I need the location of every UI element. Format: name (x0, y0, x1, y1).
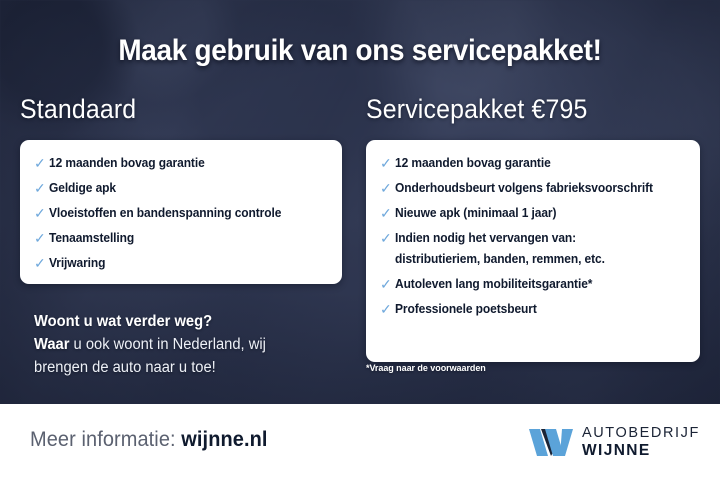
list-item: ✓ Nieuwe apk (minimaal 1 jaar) (380, 205, 686, 221)
conditions-footnote: *Vraag naar de voorwaarden (366, 363, 486, 373)
feature-label: Vloeistoffen en bandenspanning controle (49, 205, 281, 221)
list-item: ✓ 12 maanden bovag garantie (380, 155, 686, 171)
more-information-label: Meer informatie: (30, 428, 181, 451)
feature-label: Tenaamstelling (49, 230, 134, 246)
feature-label: Nieuwe apk (minimaal 1 jaar) (395, 205, 556, 221)
list-item: ✓ Indien nodig het vervangen van: (380, 230, 686, 246)
check-icon: ✓ (380, 155, 395, 171)
check-icon: ✓ (380, 180, 395, 196)
check-icon: ✓ (34, 230, 49, 246)
list-item: ✓ Geldige apk (34, 180, 328, 196)
feature-label: Vrijwaring (49, 255, 105, 271)
list-item: ✓ 12 maanden bovag garantie (34, 155, 328, 171)
check-icon: ✓ (34, 155, 49, 171)
more-information-text: Meer informatie: wijnne.nl (30, 428, 268, 452)
blurb-emphasis: Waar (34, 336, 69, 353)
feature-label: 12 maanden bovag garantie (395, 155, 551, 171)
column-standaard: Standaard ✓ 12 maanden bovag garantie ✓ … (20, 92, 342, 284)
feature-label: Indien nodig het vervangen van: (395, 230, 576, 246)
page-title: Maak gebruik van ons servicepakket! (25, 34, 695, 68)
list-item: ✓ Vrijwaring (34, 255, 328, 271)
list-item: ✓ Tenaamstelling (34, 230, 328, 246)
check-icon: ✓ (34, 205, 49, 221)
list-item: ✓ Vloeistoffen en bandenspanning control… (34, 205, 328, 221)
feature-sub-label: distributieriem, banden, remmen, etc. (395, 251, 674, 267)
check-icon: ✓ (34, 180, 49, 196)
brand-name-top: AUTOBEDRIJF (582, 426, 700, 441)
blurb-question: Woont u wat verder weg? (34, 313, 212, 330)
list-item: ✓ Professionele poetsbeurt (380, 301, 686, 317)
list-item: ✓ Onderhoudsbeurt volgens fabrieksvoorsc… (380, 180, 686, 196)
blurb-line-1: Woont u wat verder weg? (34, 310, 338, 333)
blurb-line-3: brengen de auto naar u toe! (34, 356, 338, 379)
check-icon: ✓ (380, 301, 395, 317)
list-item: ✓ Autoleven lang mobiliteitsgarantie* (380, 276, 686, 292)
column-heading-standaard: Standaard (20, 92, 316, 126)
column-servicepakket: Servicepakket €795 ✓ 12 maanden bovag ga… (366, 92, 700, 362)
brand-wordmark: AUTOBEDRIJF WIJNNE (582, 426, 700, 458)
column-heading-servicepakket: Servicepakket €795 (366, 92, 673, 126)
brand-logo: AUTOBEDRIJF WIJNNE (529, 426, 700, 458)
delivery-blurb: Woont u wat verder weg? Waar u ook woont… (34, 310, 338, 379)
check-icon: ✓ (380, 230, 395, 246)
feature-card-servicepakket: ✓ 12 maanden bovag garantie ✓ Onderhouds… (366, 140, 700, 362)
footer-bar: Meer informatie: wijnne.nl AUTOBEDRIJF W… (0, 404, 720, 480)
feature-label: Autoleven lang mobiliteitsgarantie* (395, 276, 592, 292)
blurb-line-2-rest: u ook woont in Nederland, wij (69, 336, 265, 353)
brand-name-bottom: WIJNNE (582, 443, 700, 459)
check-icon: ✓ (380, 205, 395, 221)
feature-label: Geldige apk (49, 180, 116, 196)
feature-label: Professionele poetsbeurt (395, 301, 537, 317)
check-icon: ✓ (380, 276, 395, 292)
website-link[interactable]: wijnne.nl (181, 428, 267, 451)
feature-label: 12 maanden bovag garantie (49, 155, 205, 171)
check-icon: ✓ (34, 255, 49, 271)
service-package-poster: Maak gebruik van ons servicepakket! Stan… (0, 0, 720, 480)
feature-card-standaard: ✓ 12 maanden bovag garantie ✓ Geldige ap… (20, 140, 342, 284)
wijnne-logo-icon (529, 428, 573, 457)
blurb-line-2: Waar u ook woont in Nederland, wij (34, 333, 338, 356)
feature-label: Onderhoudsbeurt volgens fabrieksvoorschr… (395, 180, 653, 196)
